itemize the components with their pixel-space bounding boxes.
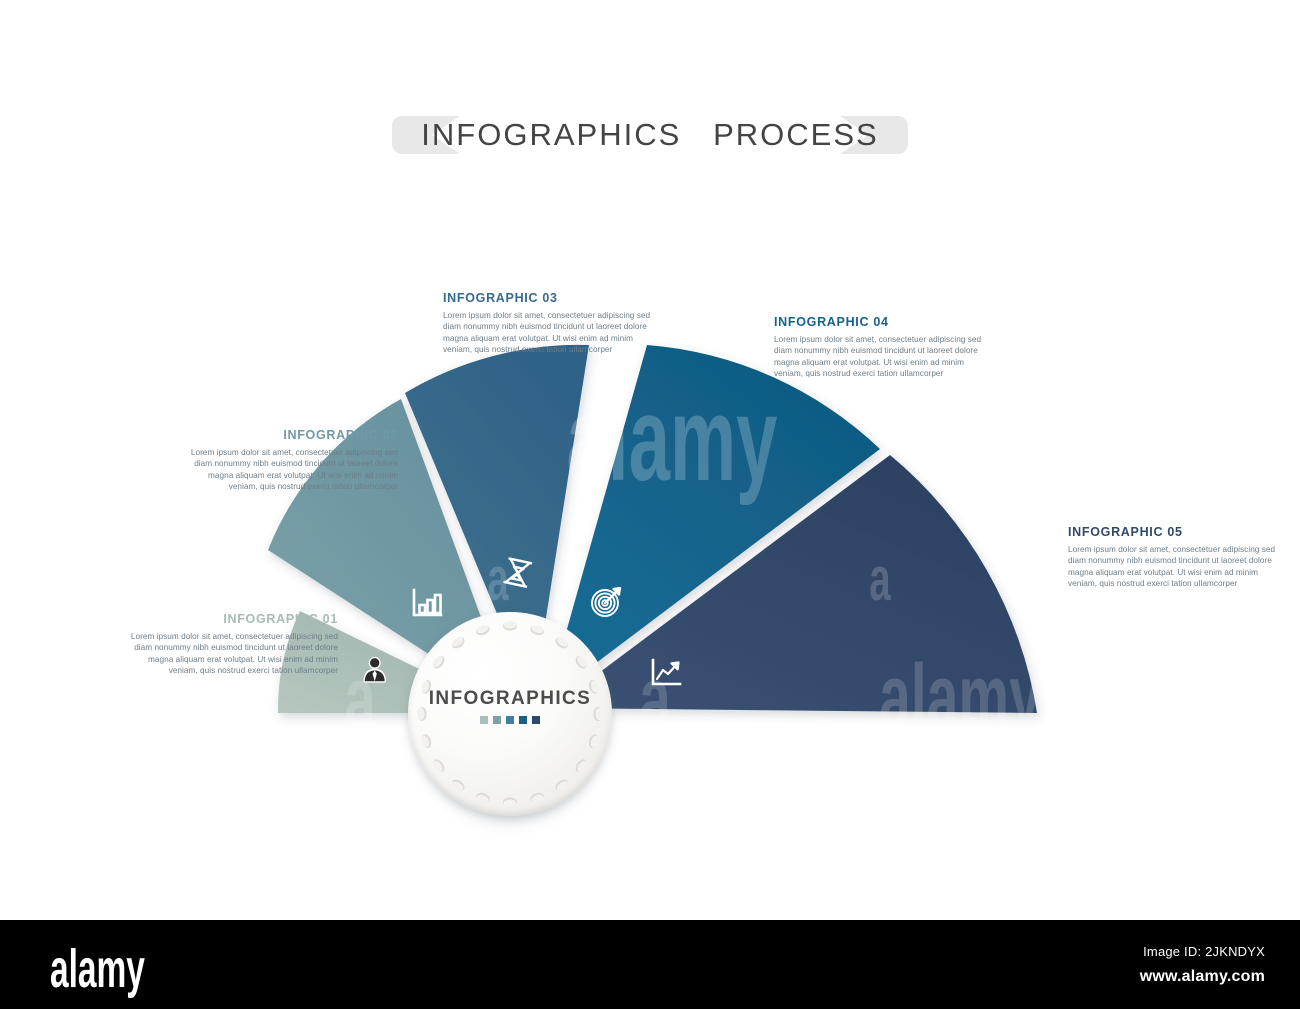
segment-title-02: INFOGRAPHIC 02 xyxy=(178,428,398,442)
segment-body-02: Lorem ipsum dolor sit amet, consectetuer… xyxy=(178,447,398,493)
segment-body-05: Lorem ipsum dolor sit amet, consectetuer… xyxy=(1068,544,1288,590)
segment-text-04: INFOGRAPHIC 04 Lorem ipsum dolor sit ame… xyxy=(774,315,994,380)
hub-swatch-1 xyxy=(480,716,488,724)
segment-text-02: INFOGRAPHIC 02 Lorem ipsum dolor sit ame… xyxy=(178,428,398,493)
segment-title-03: INFOGRAPHIC 03 xyxy=(443,291,663,305)
segment-title-01: INFOGRAPHIC 01 xyxy=(118,612,338,626)
segment-body-01: Lorem ipsum dolor sit amet, consectetuer… xyxy=(118,631,338,677)
hub-swatch-3 xyxy=(506,716,514,724)
segment-body-03: Lorem ipsum dolor sit amet, consectetuer… xyxy=(443,310,663,356)
segment-text-01: INFOGRAPHIC 01 Lorem ipsum dolor sit ame… xyxy=(118,612,338,677)
hub-swatch-5 xyxy=(532,716,540,724)
center-hub[interactable]: INFOGRAPHICS xyxy=(408,612,612,816)
hub-swatches xyxy=(408,716,612,724)
segment-title-04: INFOGRAPHIC 04 xyxy=(774,315,994,329)
hub-rim-dots xyxy=(408,612,612,816)
watermark-bar: alamy Image ID: 2JKNDYX www.alamy.com xyxy=(0,920,1300,1009)
hub-label: INFOGRAPHICS xyxy=(408,688,612,710)
segment-text-05: INFOGRAPHIC 05 Lorem ipsum dolor sit ame… xyxy=(1068,525,1288,590)
segment-body-04: Lorem ipsum dolor sit amet, consectetuer… xyxy=(774,334,994,380)
infographic-canvas: INFOGRAPHICS PROCESS xyxy=(0,0,1300,920)
alamy-url-text: www.alamy.com xyxy=(1140,968,1265,986)
segment-text-03: INFOGRAPHIC 03 Lorem ipsum dolor sit ame… xyxy=(443,291,663,356)
image-id-text: Image ID: 2JKNDYX xyxy=(1143,944,1265,959)
hub-swatch-2 xyxy=(493,716,501,724)
segment-title-05: INFOGRAPHIC 05 xyxy=(1068,525,1288,539)
hub-swatch-4 xyxy=(519,716,527,724)
alamy-logo: alamy xyxy=(50,938,145,1000)
